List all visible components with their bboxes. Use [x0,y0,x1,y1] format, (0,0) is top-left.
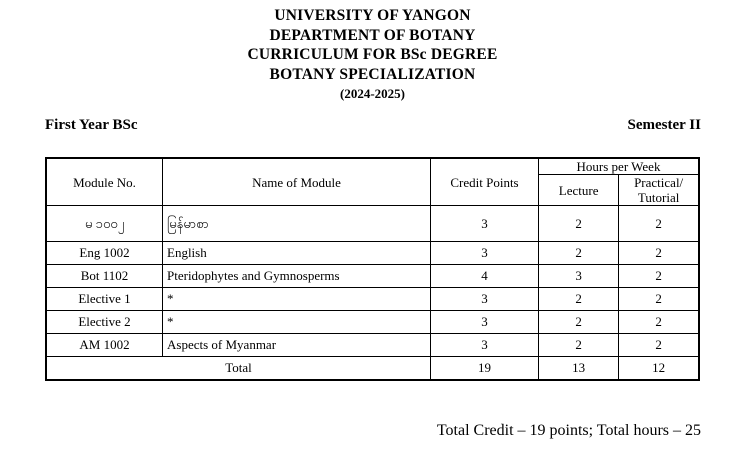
semester-label: Semester II [628,117,701,134]
cell-practical-tutorial: 2 [619,311,699,334]
table-row: Elective 2 * 3 2 2 [46,311,699,334]
cell-credit-points: 3 [431,206,539,242]
cell-practical-tutorial: 2 [619,206,699,242]
cell-module-no: Eng 1002 [46,242,163,265]
cell-total-lecture: 13 [539,357,619,381]
title-line-curriculum: CURRICULUM FOR BSc DEGREE [0,45,745,65]
table-row: AM 1002 Aspects of Myanmar 3 2 2 [46,334,699,357]
cell-credit-points: 3 [431,288,539,311]
curriculum-table: Module No. Name of Module Credit Points … [45,157,700,381]
year-semester-row: First Year BSc Semester II [45,117,701,134]
cell-practical-tutorial: 2 [619,288,699,311]
cell-module-name: English [163,242,431,265]
cell-module-name: Pteridophytes and Gymnosperms [163,265,431,288]
cell-lecture: 2 [539,288,619,311]
table-row: မ ၁၀၀၂ မြန်မာစာ 3 2 2 [46,206,699,242]
table-body: မ ၁၀၀၂ မြန်မာစာ 3 2 2 Eng 1002 English 3… [46,206,699,381]
table-header-row-1: Module No. Name of Module Credit Points … [46,158,699,175]
cell-lecture: 2 [539,242,619,265]
table-total-row: Total 19 13 12 [46,357,699,381]
cell-practical-tutorial: 2 [619,265,699,288]
title-line-university: UNIVERSITY OF YANGON [0,6,745,26]
table-row: Bot 1102 Pteridophytes and Gymnosperms 4… [46,265,699,288]
cell-module-name: Aspects of Myanmar [163,334,431,357]
cell-module-no: AM 1002 [46,334,163,357]
table-row: Elective 1 * 3 2 2 [46,288,699,311]
cell-credit-points: 3 [431,334,539,357]
cell-module-no: Elective 2 [46,311,163,334]
cell-lecture: 2 [539,334,619,357]
cell-total-label: Total [46,357,431,381]
cell-module-name: * [163,288,431,311]
cell-module-no: Bot 1102 [46,265,163,288]
cell-total-practical-tutorial: 12 [619,357,699,381]
cell-lecture: 2 [539,311,619,334]
header-credit-points: Credit Points [431,158,539,206]
cell-practical-tutorial: 2 [619,242,699,265]
title-line-department: DEPARTMENT OF BOTANY [0,26,745,46]
cell-module-no: မ ၁၀၀၂ [46,206,163,242]
cell-total-credit-points: 19 [431,357,539,381]
table-row: Eng 1002 English 3 2 2 [46,242,699,265]
header-name-of-module: Name of Module [163,158,431,206]
cell-module-no: Elective 1 [46,288,163,311]
header-module-no: Module No. [46,158,163,206]
cell-credit-points: 3 [431,242,539,265]
cell-credit-points: 3 [431,311,539,334]
cell-practical-tutorial: 2 [619,334,699,357]
document-title-block: UNIVERSITY OF YANGON DEPARTMENT OF BOTAN… [0,6,745,103]
footer-total-note: Total Credit – 19 points; Total hours – … [0,421,701,441]
table-header: Module No. Name of Module Credit Points … [46,158,699,206]
year-label: First Year BSc [45,117,137,134]
header-lecture: Lecture [539,175,619,206]
academic-year: (2024-2025) [0,85,745,103]
header-hours-per-week: Hours per Week [539,158,700,175]
cell-lecture: 3 [539,265,619,288]
cell-module-name: မြန်မာစာ [163,206,431,242]
cell-lecture: 2 [539,206,619,242]
cell-module-name: * [163,311,431,334]
header-practical-tutorial: Practical/ Tutorial [619,175,699,206]
title-line-specialization: BOTANY SPECIALIZATION [0,65,745,85]
cell-credit-points: 4 [431,265,539,288]
